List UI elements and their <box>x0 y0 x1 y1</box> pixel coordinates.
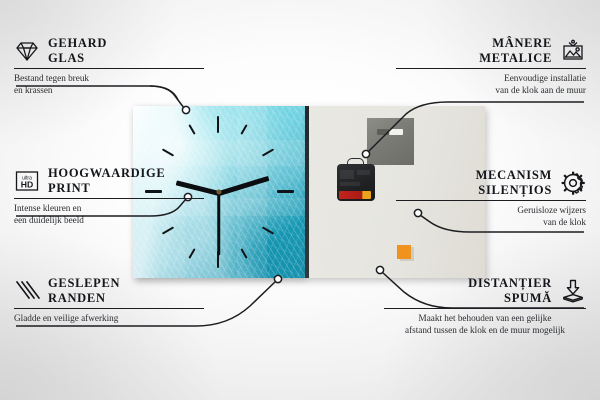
callout-mecanism-silentios: MECANISM SILENȚIOS <box>396 168 586 229</box>
callout-title: DISTANȚIER SPUMĂ <box>468 276 552 305</box>
callout-subtitle: Bestand tegen breuk en krassen <box>14 73 204 97</box>
callout-header: DISTANȚIER SPUMĂ <box>384 276 586 305</box>
gear-icon <box>560 170 586 196</box>
clock-hand-hub <box>217 190 222 195</box>
callout-manere-metalice: MÂNERE METALICE Eenvoudige installatie v… <box>396 36 586 97</box>
callout-subtitle: Maakt het behouden van een gelijke afsta… <box>384 313 586 337</box>
infographic-stage: GEHARD GLAS Bestand tegen breuk en krass… <box>0 0 600 400</box>
callout-rule <box>14 308 204 309</box>
callout-title: MÂNERE METALICE <box>479 36 552 65</box>
callout-header: MECANISM SILENȚIOS <box>396 168 586 197</box>
foam-spacer-icon <box>560 278 586 304</box>
callout-hoogwaardige-print: ultra HD HOOGWAARDIGE PRINT Intense kleu… <box>14 166 204 227</box>
mechanism-loop <box>347 158 364 167</box>
picture-hanger-icon <box>560 38 586 64</box>
callout-header: GESLEPEN RANDEN <box>14 276 204 305</box>
metal-hanger <box>367 118 414 165</box>
ultra-hd-icon: ultra HD <box>14 168 40 194</box>
callout-gehard-glas: GEHARD GLAS Bestand tegen breuk en krass… <box>14 36 204 97</box>
diamond-icon <box>14 38 40 64</box>
callout-subtitle: Intense kleuren en een duidelijk beeld <box>14 203 204 227</box>
clock-tick <box>217 116 219 133</box>
callout-rule <box>14 198 204 199</box>
foam-spacer <box>397 245 411 259</box>
callout-title: HOOGWAARDIGE PRINT <box>48 166 165 195</box>
callout-header: ultra HD HOOGWAARDIGE PRINT <box>14 166 204 195</box>
clock-second-hand <box>218 193 221 255</box>
battery <box>339 191 371 199</box>
callout-rule <box>384 308 586 309</box>
callout-geslepen-randen: GESLEPEN RANDEN Gladde en veilige afwerk… <box>14 276 204 325</box>
clock-mechanism <box>337 164 375 201</box>
callout-header: GEHARD GLAS <box>14 36 204 65</box>
callout-rule <box>396 68 586 69</box>
callout-title: GEHARD GLAS <box>48 36 107 65</box>
callout-subtitle: Gladde en veilige afwerking <box>14 313 204 325</box>
callout-subtitle: Geruisloze wijzers van de klok <box>396 205 586 229</box>
callout-title: GESLEPEN RANDEN <box>48 276 120 305</box>
callout-header: MÂNERE METALICE <box>396 36 586 65</box>
callout-subtitle: Eenvoudige installatie van de klok aan d… <box>396 73 586 97</box>
callout-rule <box>396 200 586 201</box>
hanger-keyhole-slot <box>377 129 403 135</box>
clock-back-edge <box>305 106 309 278</box>
callout-rule <box>14 68 204 69</box>
callout-title: MECANISM SILENȚIOS <box>476 168 552 197</box>
callout-distantier-spuma: DISTANȚIER SPUMĂ Maakt het behouden van … <box>384 276 586 337</box>
svg-text:HD: HD <box>21 179 33 189</box>
clock-tick <box>277 190 294 193</box>
beveled-edges-icon <box>14 278 40 304</box>
